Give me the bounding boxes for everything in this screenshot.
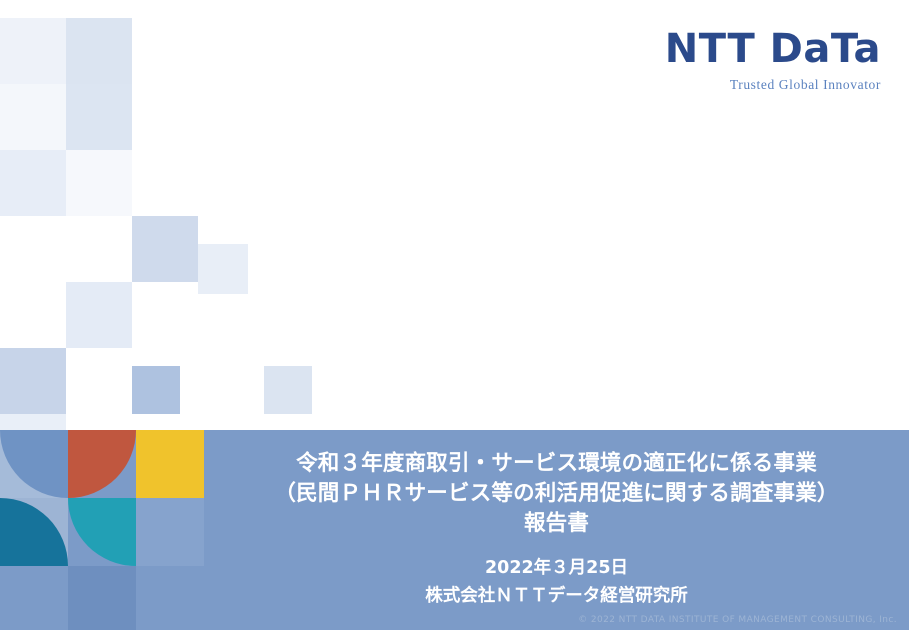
subtitle-organization: 株式会社ＮＴＴデータ経営研究所 [204, 583, 909, 609]
title-line-1: 令和３年度商取引・サービス環境の適正化に係る事業 [204, 449, 909, 479]
title-slide: NTT DaTa Trusted Global Innovator 令和３年度商… [0, 0, 909, 630]
title-text-block: 令和３年度商取引・サービス環境の適正化に係る事業 （民間ＰＨＲサービス等の利活用… [204, 430, 909, 630]
mosaic-square [0, 84, 66, 150]
mosaic-square [198, 244, 248, 294]
title-line-3: 報告書 [204, 509, 909, 539]
band-cell [68, 566, 136, 630]
mosaic-square [66, 18, 132, 84]
copyright-notice: © 2022 NTT DATA INSTITUTE OF MANAGEMENT … [578, 615, 897, 625]
mosaic-square [264, 366, 312, 414]
title-line-2: （民間ＰＨＲサービス等の利活用促進に関する調査事業） [204, 479, 909, 509]
mosaic-square [66, 348, 132, 414]
ntt-data-logo: NTT DaTa Trusted Global Innovator [621, 28, 881, 93]
mosaic-square [132, 216, 198, 282]
mosaic-square [66, 150, 132, 216]
band-cell [136, 566, 204, 630]
logo-tagline: Trusted Global Innovator [621, 77, 881, 93]
band-decoration [0, 430, 204, 630]
mosaic-square [66, 84, 132, 150]
mosaic-square [66, 282, 132, 348]
band-cell [68, 430, 136, 498]
mosaic-square [0, 414, 66, 430]
subtitle-date: 2022年３月25日 [204, 555, 909, 581]
band-cell [68, 498, 136, 566]
title-band: 令和３年度商取引・サービス環境の適正化に係る事業 （民間ＰＨＲサービス等の利活用… [0, 430, 909, 630]
mosaic-square [0, 348, 66, 414]
logo-wordmark: NTT DaTa [621, 28, 881, 70]
band-cell [0, 566, 68, 630]
mosaic-square [132, 366, 180, 414]
mosaic-square [0, 150, 66, 216]
band-cell [136, 430, 204, 498]
mosaic-square [0, 18, 66, 84]
band-cell [136, 498, 204, 566]
